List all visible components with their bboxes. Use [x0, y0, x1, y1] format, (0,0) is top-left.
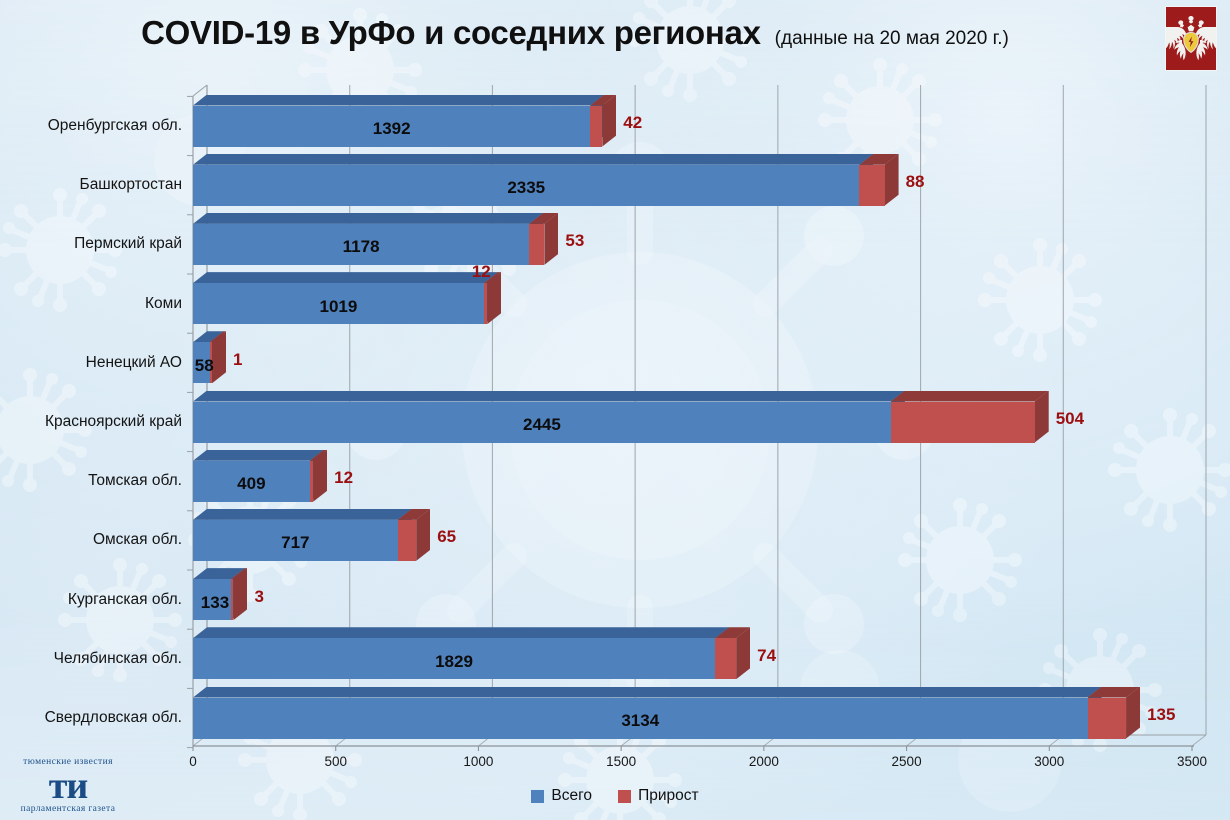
legend-item-total[interactable]: Всего	[531, 787, 592, 805]
bar-delta	[484, 283, 487, 324]
bar-value-delta: 3	[254, 587, 263, 607]
bar-value-delta: 135	[1147, 705, 1175, 725]
category-label: Свердловская обл.	[45, 709, 182, 727]
category-label: Коми	[145, 295, 182, 313]
bar-value-delta: 12	[334, 468, 353, 488]
category-label: Челябинская обл.	[54, 650, 182, 668]
bar-delta	[529, 224, 544, 265]
bar-total-top	[193, 450, 324, 461]
bar-delta-face	[859, 165, 884, 206]
bar-delta	[1088, 698, 1127, 739]
bar-delta-face	[484, 283, 487, 324]
legend-label-total: Всего	[551, 787, 592, 805]
x-tick-label: 500	[324, 754, 347, 769]
bar-total-top	[193, 391, 905, 402]
bar-total-top	[193, 95, 604, 106]
bar-total-top	[193, 213, 543, 224]
bar-value-delta: 88	[906, 172, 925, 192]
bar-value-total: 717	[281, 533, 309, 553]
category-label: Ненецкий АО	[86, 354, 182, 372]
bar-delta-face	[398, 520, 417, 561]
legend-swatch-delta	[618, 790, 631, 803]
bar-delta	[231, 579, 234, 620]
bar-delta-face	[590, 106, 602, 147]
bar-delta-top	[891, 391, 1049, 402]
bar-delta-face	[231, 579, 234, 620]
bar-total-top	[193, 509, 412, 520]
bar-value-delta: 74	[757, 646, 776, 666]
bar-delta-face	[891, 402, 1035, 443]
bar-delta	[310, 461, 313, 502]
x-tick-label: 2000	[749, 754, 779, 769]
bar-total-top	[193, 687, 1102, 698]
x-tick-label: 3000	[1034, 754, 1064, 769]
bar-value-delta: 1	[233, 350, 242, 370]
bar-delta	[859, 165, 884, 206]
x-tick-label: 0	[189, 754, 197, 769]
chart-plot-area: 1392422335881178531019125812445504409127…	[0, 0, 1230, 820]
bar-value-delta: 42	[623, 113, 642, 133]
category-label: Томская обл.	[88, 472, 182, 490]
bar-delta-face	[529, 224, 544, 265]
bar-value-total: 1392	[373, 119, 411, 139]
bar-total-top	[193, 627, 729, 638]
bar-value-total: 3134	[621, 711, 659, 731]
bar-value-total: 2335	[507, 178, 545, 198]
bar-delta-face	[310, 461, 313, 502]
chart-legend: Всего Прирост	[0, 787, 1230, 805]
bar-value-delta: 53	[565, 231, 584, 251]
logo-bottom-text: парламентская газета	[6, 804, 130, 815]
bar-value-total: 2445	[523, 415, 561, 435]
x-tick-label: 1500	[606, 754, 636, 769]
category-label: Оренбургская обл.	[48, 117, 182, 135]
bar-total-top	[193, 272, 498, 283]
legend-swatch-total	[531, 790, 544, 803]
bar-delta	[715, 638, 736, 679]
bar-value-total: 409	[237, 474, 265, 494]
bar-delta-face	[1088, 698, 1127, 739]
bar-delta	[891, 402, 1035, 443]
x-tick-label: 2500	[892, 754, 922, 769]
legend-label-delta: Прирост	[638, 787, 699, 805]
bar-value-total: 1178	[343, 237, 380, 257]
bar-value-delta: 12	[472, 262, 491, 282]
bar-value-total: 1829	[435, 652, 473, 672]
category-label: Пермский край	[74, 235, 182, 253]
category-label: Омская обл.	[93, 531, 182, 549]
bar-value-total: 133	[201, 593, 229, 613]
bar-value-total: 58	[195, 356, 214, 376]
bar-total-top	[193, 154, 873, 165]
bar-delta-face	[715, 638, 736, 679]
x-tick-label: 1000	[463, 754, 493, 769]
covid-chart-infographic: COVID-19 в УрФо и соседних регионах (дан…	[0, 0, 1230, 820]
newspaper-logo: тюменские известия ти парламентская газе…	[6, 756, 130, 816]
legend-item-delta[interactable]: Прирост	[618, 787, 699, 805]
category-label: Курганская обл.	[68, 591, 182, 609]
bar-value-delta: 504	[1056, 409, 1084, 429]
category-label: Красноярский край	[45, 413, 182, 431]
category-label: Башкортостан	[80, 176, 182, 194]
logo-monogram: ти	[6, 768, 130, 804]
x-tick-label: 3500	[1177, 754, 1207, 769]
bar-value-total: 1019	[320, 297, 358, 317]
bar-delta	[590, 106, 602, 147]
bar-delta	[398, 520, 417, 561]
bar-value-delta: 65	[437, 527, 456, 547]
